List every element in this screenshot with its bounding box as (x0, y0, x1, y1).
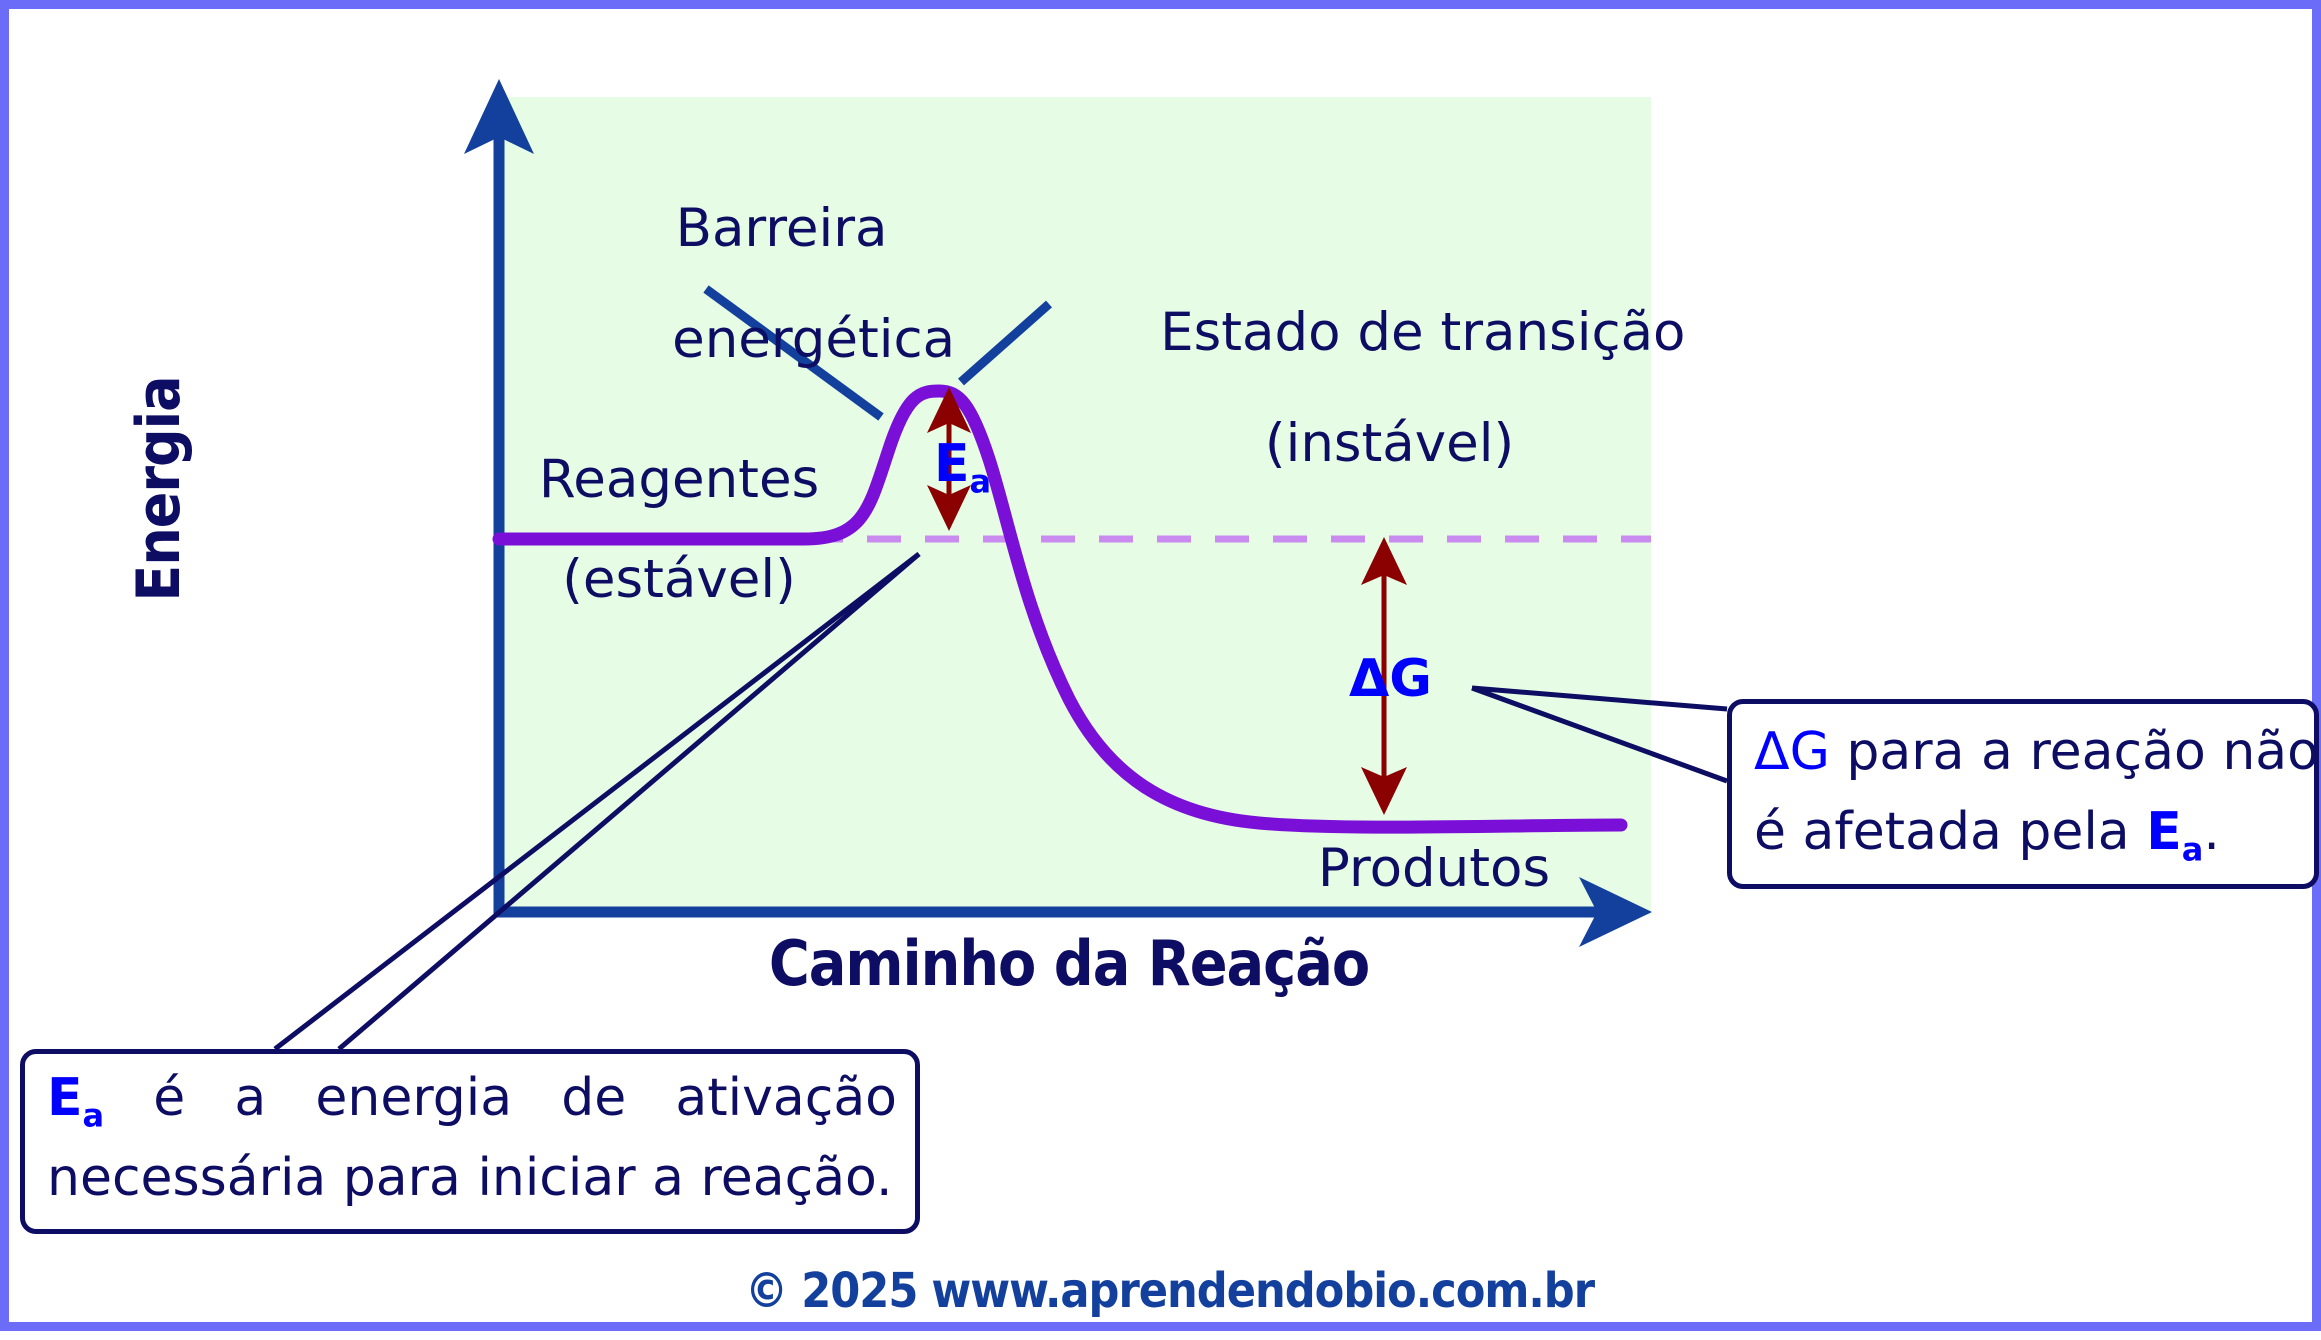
label-delta-g-symbol: ΔG (1349, 649, 1432, 709)
figure-border: Energia Caminho da Reação Barreira energ… (0, 0, 2321, 1331)
callout-ea: Ea é a energia de ativação necessária pa… (20, 1049, 920, 1234)
callout-dg-line2-post: . (2203, 802, 2220, 862)
label-reagentes-estavel: (estável) (549, 552, 809, 608)
label-reagentes: Reagentes (529, 452, 829, 508)
callout-dg-symbol: ΔG (1754, 722, 1830, 782)
footer-credit: © 2025 www.aprendendobio.com.br (9, 1263, 2321, 1319)
callout-dg-line1: ΔG para a reação não (1754, 722, 2296, 782)
label-ea-symbol: Ea (934, 434, 991, 500)
callout-dg-ea-symbol: Ea (2146, 802, 2203, 862)
label-barreira-line1: Barreira (676, 198, 888, 259)
callout-ea-line1-rest: é a energia de ativação (153, 1068, 897, 1128)
label-barreira-energetica: Barreira energética (571, 145, 891, 423)
label-estado-line2: (instável) (1265, 413, 1514, 474)
callout-dg-line1-rest: para a reação não (1830, 722, 2319, 782)
callout-dg-line2: é afetada pela Ea. (1754, 802, 2296, 868)
y-axis-title: Energia (124, 324, 194, 654)
label-estado-transicao: Estado de transição (instável) (1059, 249, 1619, 527)
x-axis-title: Caminho da Reação (749, 927, 1389, 1000)
callout-delta-g: ΔG para a reação não é afetada pela Ea. (1727, 699, 2319, 889)
label-barreira-line2: energética (672, 309, 955, 370)
ea-letter: E (934, 434, 970, 494)
callout-dg-line2-pre: é afetada pela (1754, 802, 2146, 862)
ea-subscript: a (970, 462, 992, 500)
label-produtos: Produtos (1299, 841, 1569, 897)
callout-ea-line1: Ea é a energia de ativação (47, 1068, 897, 1134)
callout-ea-symbol: Ea (47, 1068, 104, 1128)
diagram-stage: Energia Caminho da Reação Barreira energ… (9, 9, 2321, 1340)
label-estado-line1: Estado de transição (1160, 302, 1685, 363)
callout-ea-line2: necessária para iniciar a reação. (47, 1148, 897, 1208)
